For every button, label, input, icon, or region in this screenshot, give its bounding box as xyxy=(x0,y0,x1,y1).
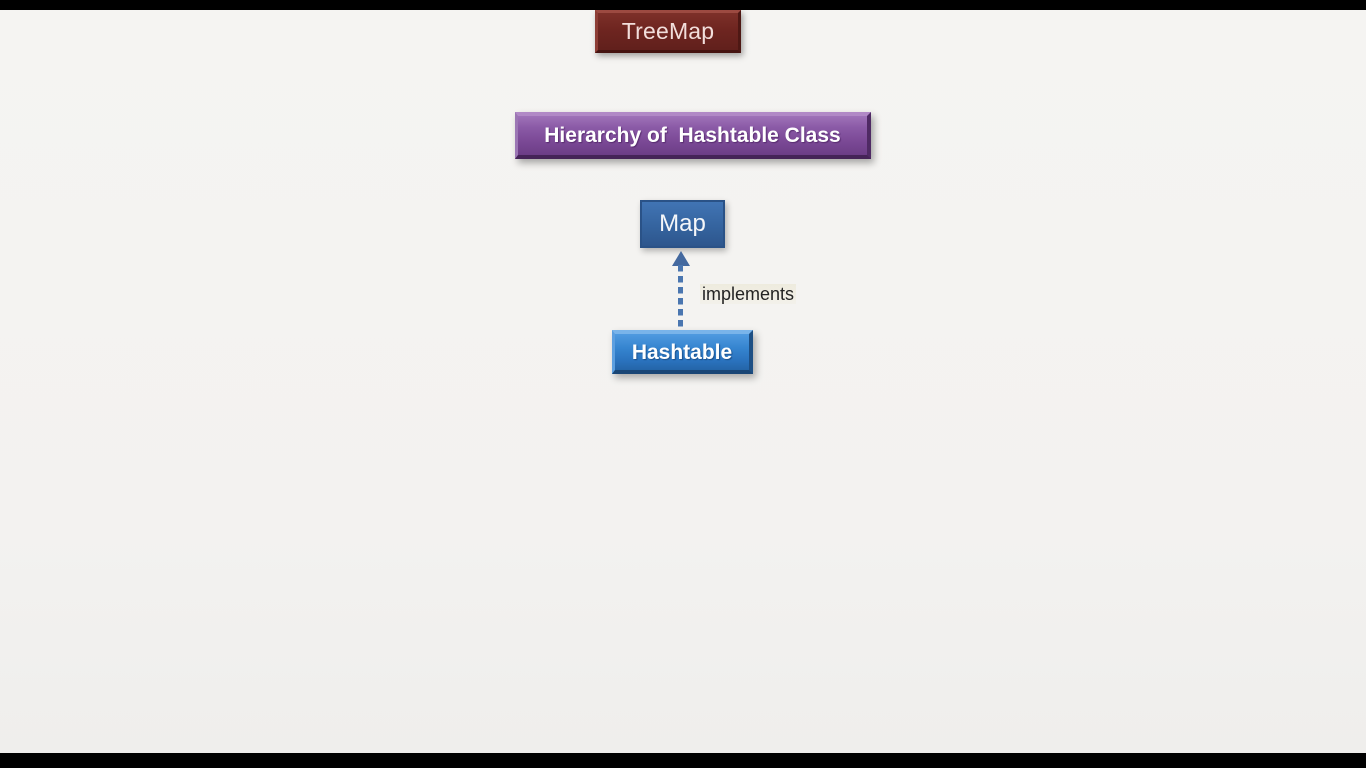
letterbox-bottom xyxy=(0,753,1366,768)
implements-connector xyxy=(664,249,698,333)
node-hashtable[interactable]: Hashtable xyxy=(612,330,753,374)
arrow-up-icon xyxy=(672,251,690,266)
dashed-line xyxy=(678,265,683,333)
letterbox-top xyxy=(0,0,1366,10)
slide-root: TreeMap Hierarchy of Hashtable Class Map… xyxy=(0,0,1366,768)
edge-label-implements: implements xyxy=(700,284,796,304)
node-map-label: Map xyxy=(659,212,706,236)
title-banner: Hierarchy of Hashtable Class xyxy=(515,112,871,159)
node-map[interactable]: Map xyxy=(640,200,725,248)
node-hashtable-label: Hashtable xyxy=(632,342,732,363)
node-treemap[interactable]: TreeMap xyxy=(595,10,741,53)
node-treemap-label: TreeMap xyxy=(622,20,715,43)
title-banner-label: Hierarchy of Hashtable Class xyxy=(544,125,840,146)
slide-canvas: TreeMap Hierarchy of Hashtable Class Map… xyxy=(0,10,1366,753)
